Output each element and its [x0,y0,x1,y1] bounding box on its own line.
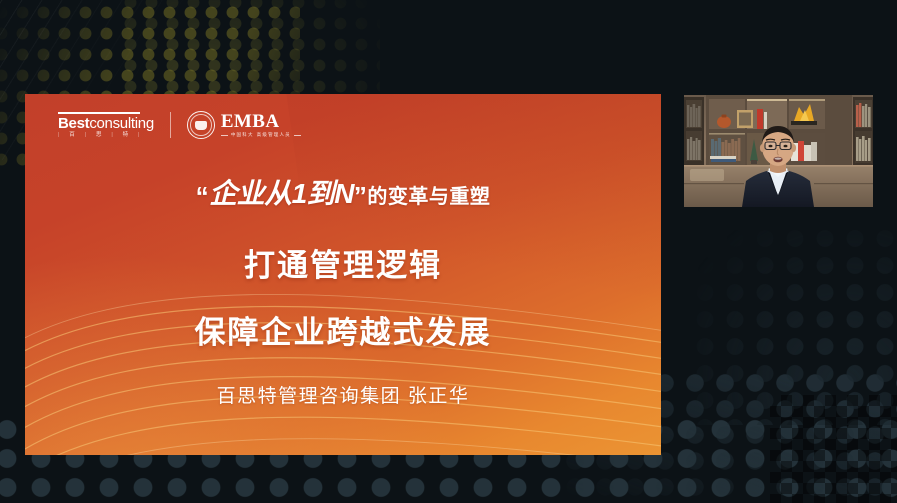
brand-logo-word-light: consulting [89,115,154,132]
emba-acronym: EMBA [221,112,301,131]
emba-subline: 中国科大 高级管理人员 [221,133,301,138]
partner-logo-emba: EMBA 中国科大 高级管理人员 [187,111,301,139]
brand-logo-rule [58,112,140,114]
slide-headline-line-2: 保障企业跨越式发展 [25,307,661,352]
emba-subline-dash-right [294,135,301,136]
eyebrow-emphasis-one: 1 [292,178,307,209]
brand-logo-wordmark: Bestconsulting [58,116,154,131]
slide-eyebrow: “企业从1到N”的变革与重塑 [25,172,661,212]
eyebrow-quote-close: ” [354,181,368,211]
brand-logo-cn-char-1: 思 [96,133,102,139]
eyebrow-tail: 的变革与重塑 [367,186,490,208]
brand-logo-cn-char-2: 特 [123,133,129,139]
brand-logo-tick-3: | [138,133,140,139]
slide-logo-bar: Bestconsulting | 百 | 思 | 特 | EMB [58,111,301,139]
eyebrow-lead: 企业从 [209,178,292,209]
emba-subline-right: 高级管理人员 [257,133,291,138]
slide-byline: 百思特管理咨询集团 张正华 [25,381,661,408]
eyebrow-emphasis-n: N [334,178,354,209]
eyebrow-mid: 到 [307,178,335,209]
eyebrow-quote-open: “ [196,181,210,211]
diamond-pattern-bottom-right [770,395,897,503]
emba-subline-left: 中国科大 [231,133,254,138]
presenter-video-tile[interactable] [684,95,873,207]
emba-subline-dash-left [221,135,228,136]
brand-logo-tick-0: | [58,133,60,139]
brand-logo-tick-2: | [111,133,113,139]
halftone-pattern-right [690,225,897,425]
presentation-slide[interactable]: Bestconsulting | 百 | 思 | 特 | EMB [25,94,661,455]
emba-wordmark: EMBA 中国科大 高级管理人员 [221,112,301,138]
screen-canvas: Bestconsulting | 百 | 思 | 特 | EMB [0,0,897,503]
brand-logo-word-bold: Best [58,115,89,132]
brand-logo-cn-char-0: 百 [69,133,75,139]
logo-divider [170,112,171,138]
seal-core-shape [195,121,207,130]
brand-logo-chinese: | 百 | 思 | 特 | [58,133,140,139]
university-seal-icon [187,111,215,139]
brand-logo-tick-1: | [85,133,87,139]
brand-logo-best-consulting: Bestconsulting | 百 | 思 | 特 | [58,112,154,139]
slide-headline-line-1: 打通管理逻辑 [25,240,661,285]
slide-text-block: “企业从1到N”的变革与重塑 打通管理逻辑 保障企业跨越式发展 [25,172,661,352]
presenter-video-frame [684,95,873,207]
